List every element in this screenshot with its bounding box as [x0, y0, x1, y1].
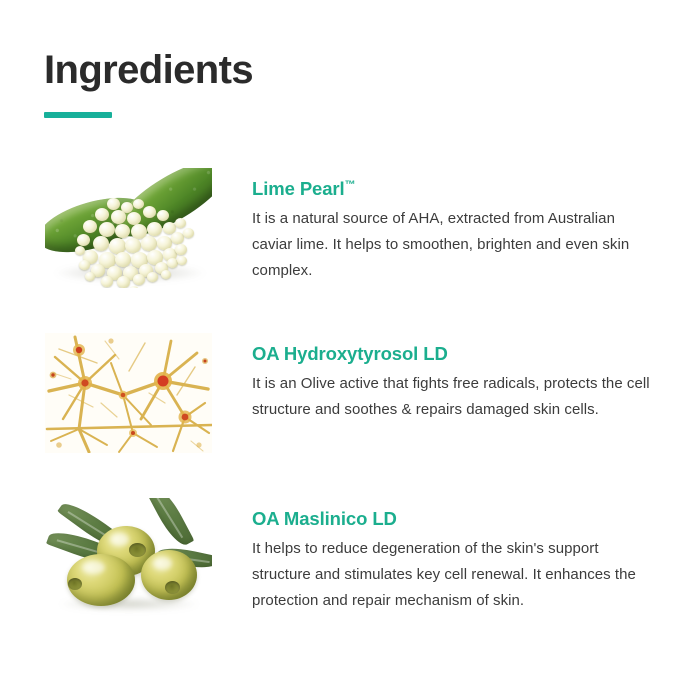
- title-accent-rule: [44, 112, 112, 118]
- olive-front: [67, 554, 135, 606]
- ingredients-page: Ingredients Lime Pearl™ It is a natural …: [0, 0, 700, 700]
- olive-highlight: [110, 533, 130, 546]
- neuron-network-graphic: [45, 333, 212, 453]
- ingredient-text: OA Maslinico LD It helps to reduce degen…: [212, 498, 700, 614]
- olive-highlight: [153, 557, 172, 570]
- page-title: Ingredients: [44, 48, 253, 92]
- lime-pearl: [99, 222, 115, 237]
- lime-pearl: [125, 238, 141, 253]
- lime-pearl: [147, 222, 162, 236]
- ingredient-name: OA Hydroxytyrosol LD: [252, 343, 700, 365]
- lime-pearl: [157, 210, 169, 221]
- ingredient-name-text: OA Hydroxytyrosol LD: [252, 343, 448, 364]
- ingredient-row: OA Hydroxytyrosol LD It is an Olive acti…: [0, 333, 700, 453]
- lime-pearl: [107, 198, 120, 210]
- lime-pearl: [141, 236, 157, 251]
- lime-pearl: [147, 272, 158, 282]
- ingredient-row: Lime Pearl™ It is a natural source of AH…: [0, 168, 700, 288]
- lime-pearl: [75, 246, 85, 255]
- ingredient-name: Lime Pearl™: [252, 178, 700, 200]
- lime-pearl: [115, 224, 130, 238]
- lime-pearl: [85, 272, 95, 281]
- ingredient-name-text: Lime Pearl: [252, 178, 345, 199]
- ingredient-text: OA Hydroxytyrosol LD It is an Olive acti…: [212, 333, 700, 423]
- lime-pearl: [83, 220, 97, 233]
- lime-pearl: [129, 286, 139, 288]
- ingredient-description: It helps to reduce degeneration of the s…: [252, 536, 652, 613]
- ingredient-text: Lime Pearl™ It is a natural source of AH…: [212, 168, 700, 284]
- trademark-symbol: ™: [345, 179, 356, 191]
- lime-pearl: [177, 256, 187, 265]
- ingredient-name-text: OA Maslinico LD: [252, 508, 397, 529]
- lime-pearl: [77, 234, 90, 246]
- ingredient-description: It is a natural source of AHA, extracted…: [252, 206, 652, 283]
- lime-pearl: [133, 274, 145, 285]
- lime-pearl: [161, 270, 171, 279]
- cell-network-micrograph-photo: [45, 333, 212, 453]
- lime-pearl: [175, 244, 187, 255]
- ingredient-row: OA Maslinico LD It helps to reduce degen…: [0, 498, 700, 618]
- lime-pearl: [111, 210, 126, 224]
- ingredient-list: Lime Pearl™ It is a natural source of AH…: [0, 168, 700, 663]
- ingredient-name: OA Maslinico LD: [252, 508, 700, 530]
- lime-pearl: [175, 218, 186, 228]
- ingredient-description: It is an Olive active that fights free r…: [252, 371, 652, 423]
- lime-pearl: [171, 232, 184, 244]
- olive-highlight: [82, 561, 105, 575]
- lime-pearl: [133, 199, 144, 209]
- caviar-lime-pearls-photo: [45, 168, 212, 288]
- lime-pearl: [95, 208, 109, 221]
- olive-pit-hole: [68, 578, 82, 590]
- lime-pearl-cluster: [73, 196, 191, 282]
- olive-pit-hole: [165, 581, 180, 594]
- lime-pearl: [183, 228, 194, 238]
- lime-pearl: [115, 252, 131, 267]
- green-olives-photo: [45, 498, 212, 618]
- olive-pit-hole: [129, 543, 146, 557]
- lime-pearl: [79, 260, 90, 270]
- olive-right: [141, 550, 197, 600]
- lime-pearl: [143, 206, 156, 218]
- lime-pearl: [101, 276, 113, 287]
- lime-pearl: [93, 236, 109, 251]
- lime-pearl: [117, 276, 130, 288]
